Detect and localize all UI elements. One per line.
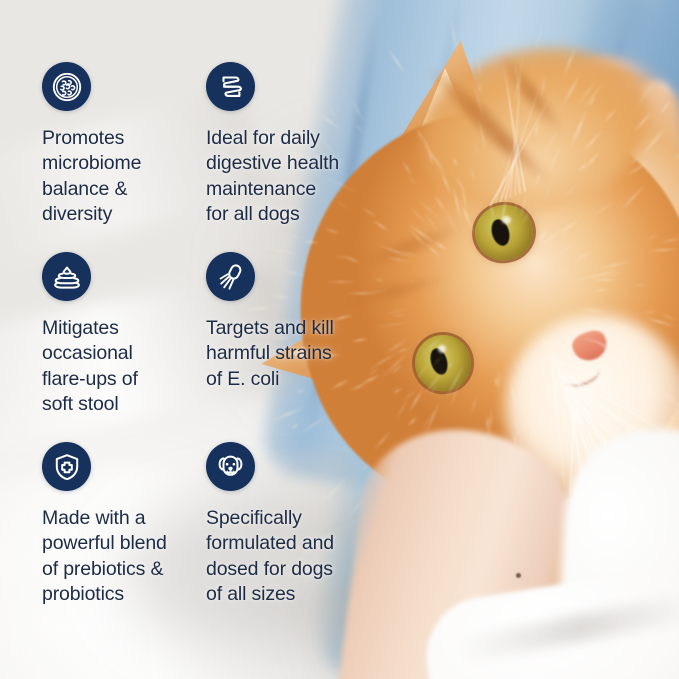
feature-label: Made with a powerful blend of prebiotics… xyxy=(42,506,202,607)
feature-label: Targets and kill harmful strains of E. c… xyxy=(206,316,366,392)
feature-item-microbiome: Promotes microbiome balance & diversity xyxy=(42,62,202,252)
stool-icon xyxy=(42,252,91,301)
shield-medical-cross-icon xyxy=(42,442,91,491)
intestine-gut-icon xyxy=(206,62,255,111)
feature-item-soft-stool: Mitigates occasional flare-ups of soft s… xyxy=(42,252,202,442)
dog-face-icon xyxy=(206,442,255,491)
feature-item-prebiotics-probiotics: Made with a powerful blend of prebiotics… xyxy=(42,442,202,632)
feature-label: Ideal for daily digestive health mainten… xyxy=(206,126,366,227)
product-feature-image: Promotes microbiome balance & diversity … xyxy=(0,0,679,679)
feature-label: Promotes microbiome balance & diversity xyxy=(42,126,202,227)
feature-item-ecoli: Targets and kill harmful strains of E. c… xyxy=(206,252,366,442)
feature-label: Mitigates occasional flare-ups of soft s… xyxy=(42,316,202,417)
cat-eye-glint xyxy=(438,345,446,353)
feature-label: Specifically formulated and dosed for do… xyxy=(206,506,366,607)
feature-item-digestive-health: Ideal for daily digestive health mainten… xyxy=(206,62,366,252)
feature-item-all-sizes: Specifically formulated and dosed for do… xyxy=(206,442,366,632)
ecoli-bacteria-flagella-icon xyxy=(206,252,255,301)
petri-dish-bacteria-icon xyxy=(42,62,91,111)
skin-mole xyxy=(516,573,521,578)
